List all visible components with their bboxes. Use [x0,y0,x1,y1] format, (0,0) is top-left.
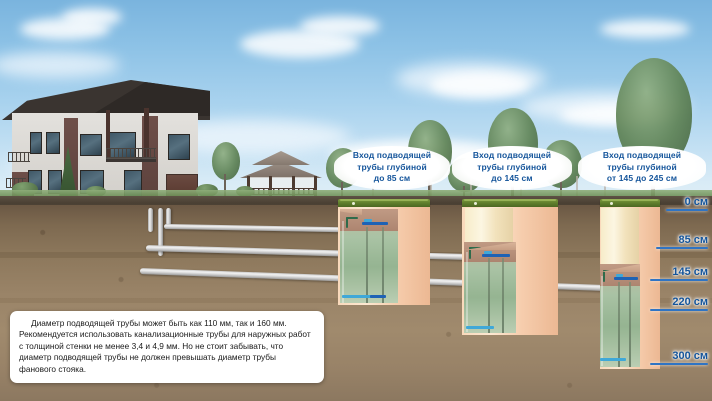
callout-tank-1: Вход подводящей трубы глубиной до 85 см [334,146,450,190]
callout-1-line-3: до 85 см [341,173,443,185]
callout-3-line-1: Вход подводящей [585,150,699,162]
callout-2-line-1: Вход подводящей [459,150,565,162]
tank-interior [340,209,398,303]
depth-label-85: 85 см [678,234,708,246]
tank-water-level [464,262,516,333]
cloud [300,16,380,36]
depth-bar-220 [650,309,708,312]
house-window [46,132,60,154]
tank-wall-highlight [601,276,603,366]
tank-chamber-divider [488,258,490,333]
tank-chamber-divider [366,227,368,303]
info-text: Диаметр подводящей трубы может быть как … [19,318,315,375]
callout-3-line-2: трубы глубиной [585,162,699,174]
septic-tank-2 [460,199,560,335]
tank-interior [464,242,516,333]
depth-mark-0: 0 см [634,196,710,209]
tank-hatch-marker [474,202,477,205]
depth-mark-85: 85 см [628,234,710,247]
house-window [30,132,42,154]
inlet-pipe-horizontal [362,222,388,225]
tank-hatch-marker [352,202,355,205]
outlet-pipe-segment [370,295,386,298]
depth-mark-145: 145 см [620,266,710,279]
depth-label-0: 0 см [685,196,708,208]
tank-hatch-marker [610,202,613,205]
tank-water-level [340,231,398,303]
depth-mark-300: 300 см [620,350,710,363]
house [2,80,210,198]
depth-label-300: 300 см [672,350,708,362]
depth-bar-85 [656,247,708,250]
cloud [430,72,530,98]
cloud [62,8,122,26]
house-balcony-railing [106,148,156,158]
callout-3-line-3: от 145 до 245 см [585,173,699,185]
tank-extension-neck-front [465,208,513,243]
depth-bar-300 [650,363,708,366]
tree-crown [212,142,240,180]
depth-label-220: 220 см [672,296,708,308]
inlet-pipe-elbow [346,217,358,219]
inlet-pipe-fitting [484,251,492,254]
depth-mark-220: 220 см [620,296,710,309]
callout-1-line-2: трубы глубиной [341,162,443,174]
house-balcony-railing [8,152,30,162]
house-balcony-floor [106,158,156,162]
inlet-pipe-fitting [364,219,372,222]
depth-label-145: 145 см [672,266,708,278]
cloud [600,20,690,38]
callout-tank-3: Вход подводящей трубы глубиной от 145 до… [578,146,706,190]
depth-bar-145 [650,279,708,282]
info-text-box: Диаметр подводящей трубы может быть как … [10,311,324,383]
house-window [80,134,102,156]
tank-wall-highlight [466,252,468,332]
callout-1-line-1: Вход подводящей [341,150,443,162]
callout-2-line-2: трубы глубиной [459,162,565,174]
tank-chamber-divider [502,258,504,333]
tank-chamber-divider [382,227,384,303]
house-window [168,134,190,160]
tank-lid-highlight [464,199,556,201]
septic-tank-1 [336,199,432,305]
illustration-scene: Вход подводящей трубы глубиной до 85 см … [0,0,712,401]
tank-wall-highlight [342,221,344,303]
callout-tank-2: Вход подводящей трубы глубиной до 145 см [452,146,572,190]
depth-bar-0 [666,209,708,212]
gazebo-roof-upper [252,151,310,165]
outlet-pipe [342,295,372,298]
callout-2-line-3: до 145 см [459,173,565,185]
tank-lid-highlight [340,199,428,201]
septic-tank-3 [600,199,662,369]
outlet-pipe [466,326,494,329]
pipe-vertical-drop [148,208,153,232]
inlet-pipe-horizontal [482,254,510,257]
